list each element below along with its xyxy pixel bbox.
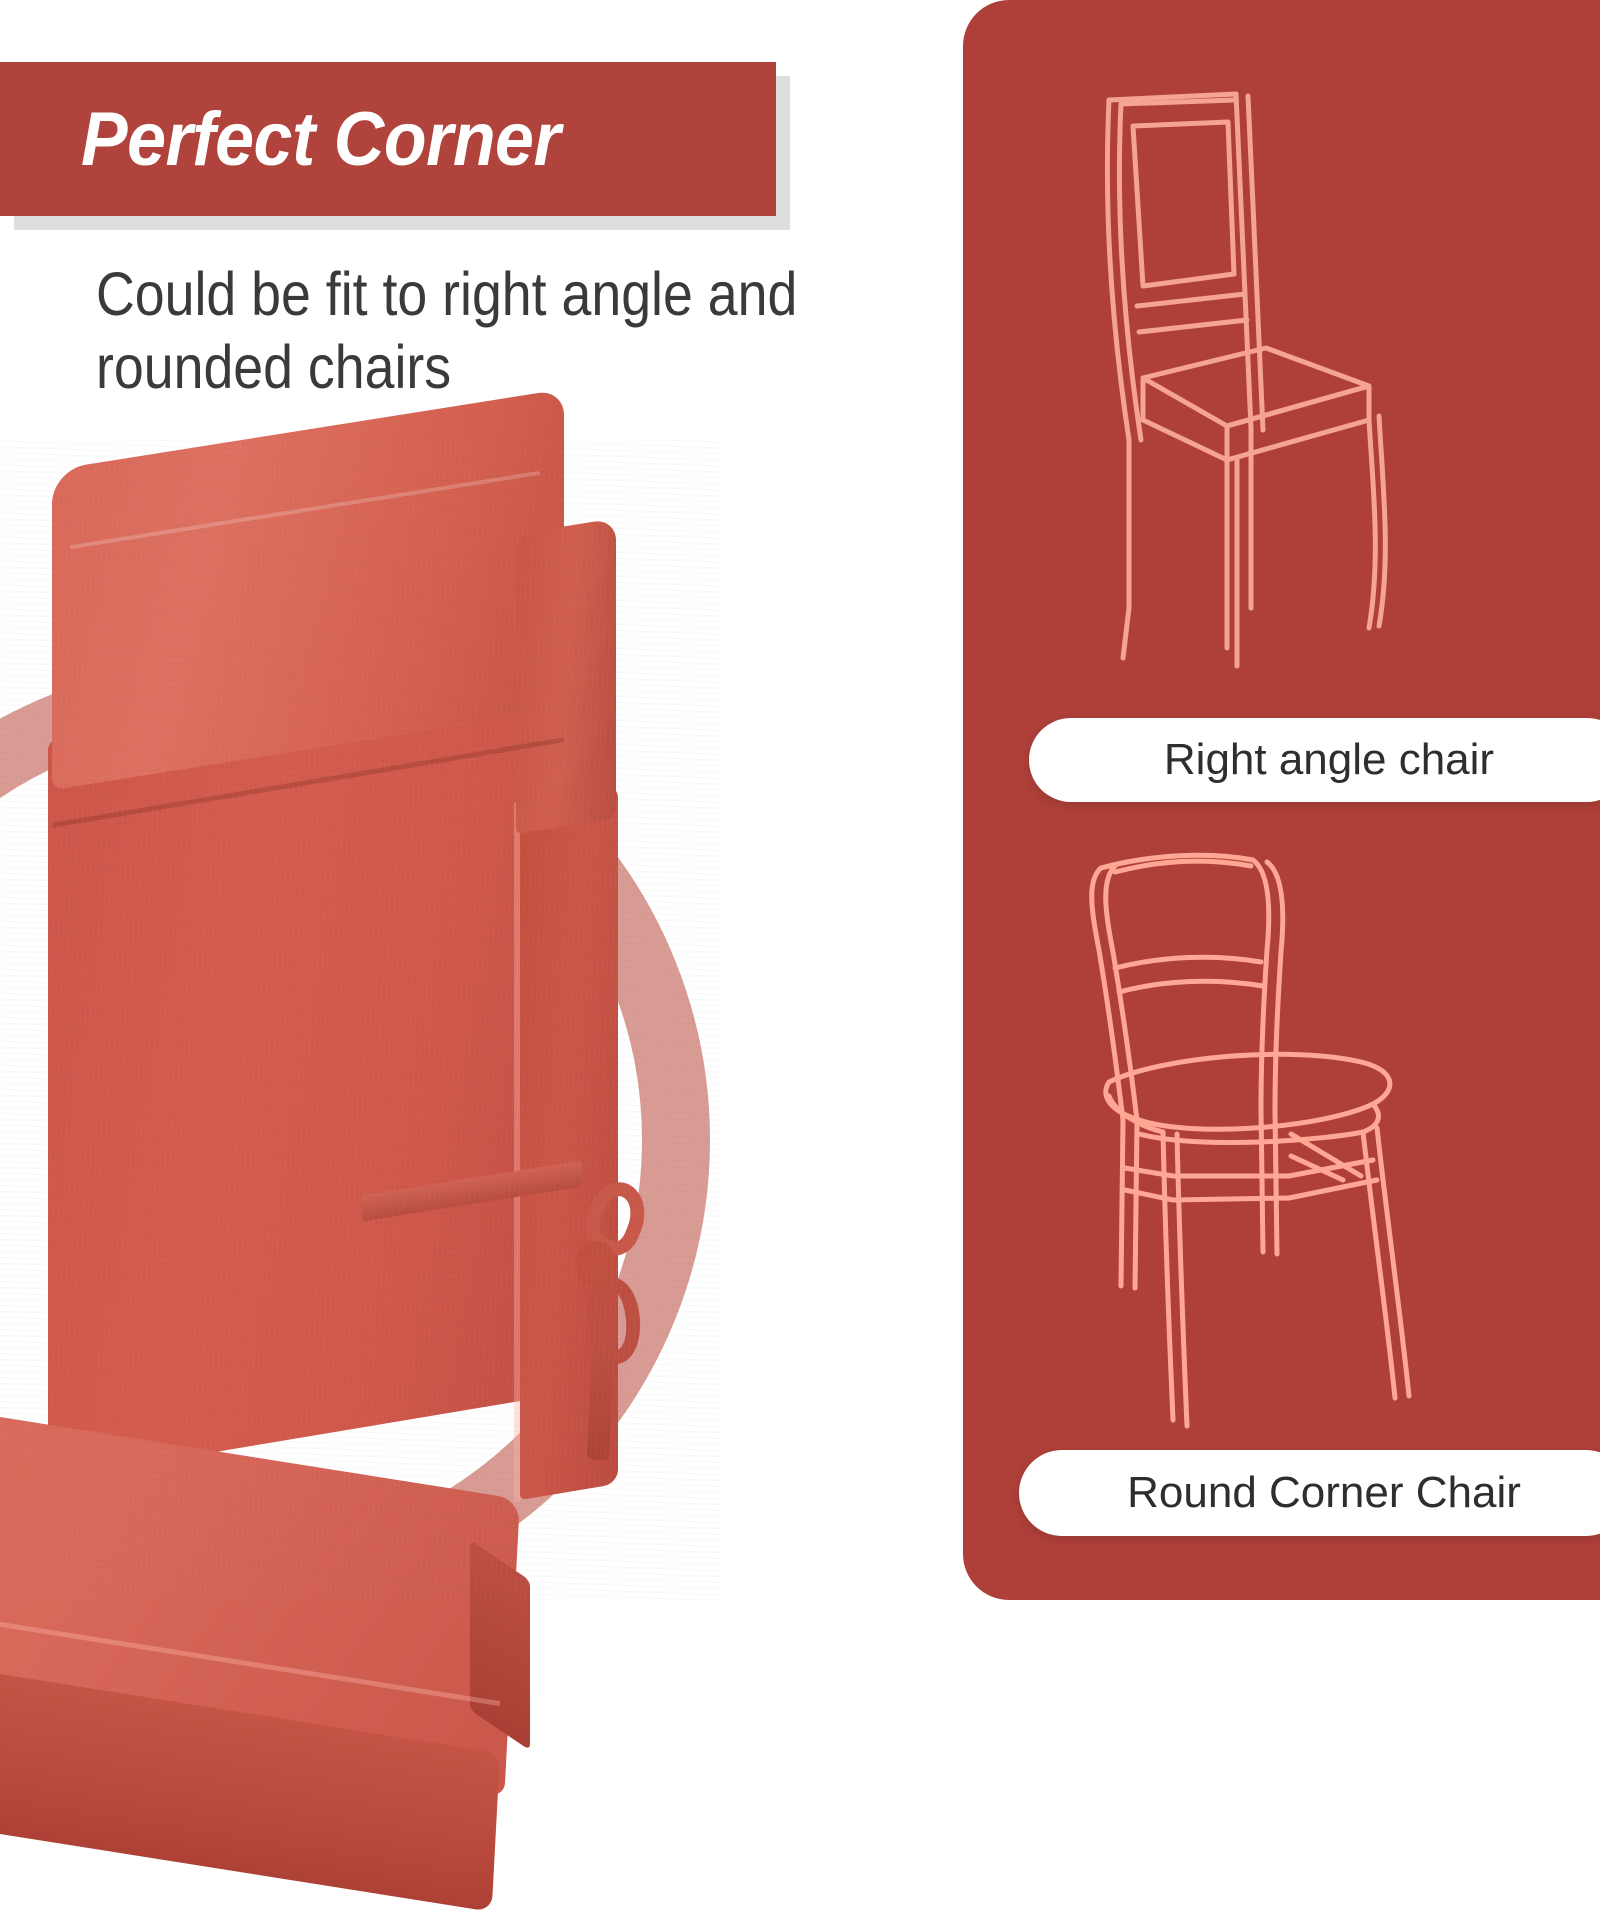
right-angle-chair-icon: [1051, 48, 1471, 688]
label-right-angle-chair-text: Right angle chair: [1164, 735, 1494, 785]
left-content-column: Perfect Corner Could be fit to right ang…: [0, 0, 963, 1600]
page-title: Perfect Corner: [0, 96, 560, 183]
label-round-corner-chair-text: Round Corner Chair: [1127, 1468, 1521, 1518]
subtitle-text: Could be fit to right angle and rounded …: [96, 258, 844, 404]
label-round-corner-chair: Round Corner Chair: [1019, 1450, 1600, 1536]
title-banner: Perfect Corner: [0, 62, 790, 230]
cushion-back-piping: [514, 801, 520, 1502]
product-image-chair-cushion: [0, 440, 720, 1600]
round-corner-chair-icon: [1043, 820, 1503, 1440]
chair-types-panel: Right angle chair: [963, 0, 1600, 1600]
banner-bar: Perfect Corner: [0, 62, 776, 216]
cushion-headrest-side-face: [516, 518, 616, 834]
label-right-angle-chair: Right angle chair: [1029, 718, 1600, 802]
